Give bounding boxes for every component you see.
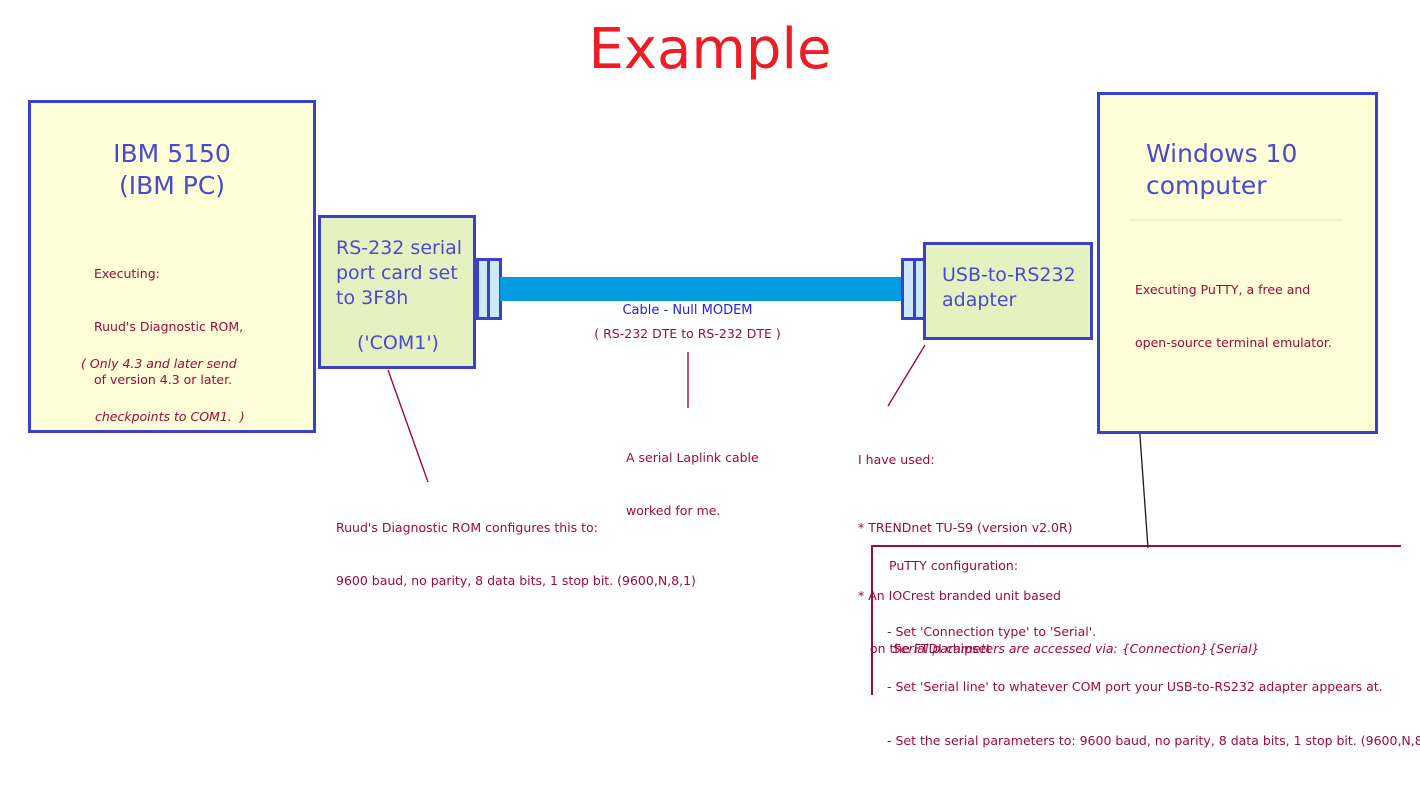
- usb-adapter-heading-line2: adapter: [942, 288, 1092, 313]
- null-modem-cable: [500, 277, 915, 301]
- putty-config-line2: - Set 'Serial line' to whatever COM port…: [887, 678, 1420, 696]
- usb-adapter-annotation-line1: I have used:: [858, 451, 1073, 469]
- page-title: Example: [0, 22, 1420, 78]
- rs232-card-heading-line2: port card set: [336, 261, 476, 286]
- ibm-5150-heading-line2: (IBM PC): [31, 170, 313, 202]
- ibm-5150-italic-line2: checkpoints to COM1. ): [81, 408, 245, 426]
- cable-annotation-line1: A serial Laplink cable: [626, 449, 759, 467]
- ibm-5150-box: IBM 5150 (IBM PC) Executing: Ruud's Diag…: [28, 100, 316, 433]
- ibm-5150-heading-line1: IBM 5150: [31, 138, 313, 170]
- putty-config-lines: - Set 'Connection type' to 'Serial'. - S…: [887, 587, 1420, 786]
- cable-annotation: A serial Laplink cable worked for me.: [626, 413, 759, 555]
- windows-10-note: Executing PuTTY, a free and open-source …: [1135, 245, 1332, 387]
- rs232-card-heading-line4: [336, 311, 476, 321]
- ibm-5150-italic-note: ( Only 4.3 and later send checkpoints to…: [81, 319, 245, 461]
- cable-label: Cable - Null MODEM: [560, 303, 815, 318]
- windows-10-heading-line2: computer: [1112, 170, 1362, 202]
- usb-adapter-annotation-line2: * TRENDnet TU-S9 (version v2.0R): [858, 519, 1073, 537]
- rs232-serial-card-box: RS-232 serial port card set to 3F8h ('CO…: [318, 215, 476, 369]
- ibm-5150-heading: IBM 5150 (IBM PC): [31, 138, 313, 202]
- ibm-5150-note-line1: Executing:: [94, 265, 243, 283]
- usb-adapter-heading-line1: USB-to-RS232: [942, 263, 1092, 288]
- cable-sublabel: ( RS-232 DTE to RS-232 DTE ): [560, 326, 815, 341]
- connector-divider-right: [913, 261, 916, 317]
- serial-card-annotation-line2: 9600 baud, no parity, 8 data bits, 1 sto…: [336, 572, 696, 590]
- rs232-card-heading: RS-232 serial port card set to 3F8h ('CO…: [336, 236, 476, 356]
- putty-config-line1: - Set 'Connection type' to 'Serial'.: [887, 623, 1420, 641]
- windows-10-box: Windows 10 computer Executing PuTTY, a f…: [1097, 92, 1378, 434]
- windows-10-heading-line1: Windows 10: [1112, 138, 1362, 170]
- diagram-canvas: Example IBM 5150 (IBM PC) Executing: Ruu…: [0, 0, 1420, 699]
- windows-10-note-line2: open-source terminal emulator.: [1135, 334, 1332, 352]
- putty-configuration-box: PuTTY configuration: - Set 'Connection t…: [871, 545, 1401, 695]
- rs232-card-heading-line1: RS-232 serial: [336, 236, 476, 261]
- windows-10-heading: Windows 10 computer: [1112, 138, 1362, 202]
- cable-annotation-line2: worked for me.: [626, 502, 759, 520]
- serial-card-db9-connector: [476, 258, 502, 320]
- rs232-card-com1-label: ('COM1'): [336, 321, 476, 356]
- putty-config-line3: - Set the serial parameters to: 9600 bau…: [887, 732, 1420, 750]
- putty-config-title: PuTTY configuration:: [889, 557, 1018, 575]
- usb-adapter-heading: USB-to-RS232 adapter: [942, 263, 1092, 313]
- putty-config-footer: Serial parameters are accessed via: {Con…: [893, 640, 1260, 658]
- rs232-card-heading-line3: to 3F8h: [336, 286, 476, 311]
- leader-line-usb-adapter: [888, 345, 925, 406]
- connector-divider-left: [487, 261, 490, 317]
- ibm-5150-italic-line1: ( Only 4.3 and later send: [81, 355, 245, 373]
- usb-to-rs232-adapter-box: USB-to-RS232 adapter: [923, 242, 1093, 340]
- windows-10-note-line1: Executing PuTTY, a free and: [1135, 281, 1332, 299]
- leader-line-serial-card: [388, 370, 428, 482]
- windows-10-divider: [1130, 219, 1342, 221]
